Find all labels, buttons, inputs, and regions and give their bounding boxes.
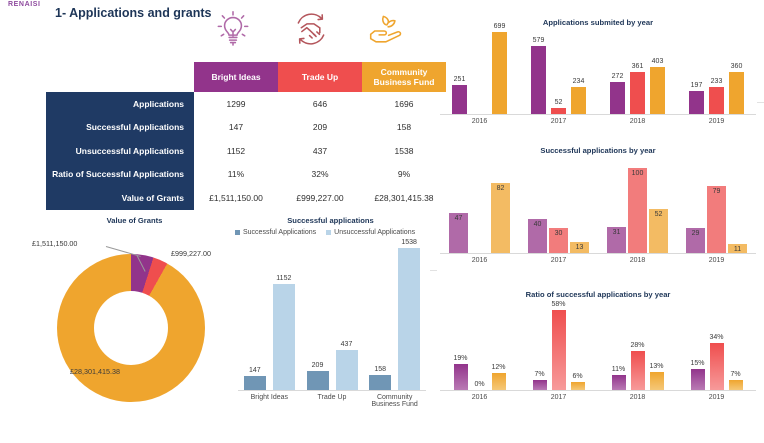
bar-bright-ideas-2016[interactable] (454, 364, 468, 390)
x-axis-label-bright-ideas: Bright Ideas (238, 394, 301, 401)
bar-label-community-business-fund-2019: 11 (722, 246, 753, 253)
bar-community-business-fund-2017[interactable] (571, 87, 586, 114)
chart-successful-applications: Successful applications Successful Appli… (228, 212, 433, 440)
cell-successful-bright-ideas: 147 (194, 116, 278, 140)
legend-item-unsuccessful[interactable]: Unsuccessful Applications (326, 229, 415, 236)
bar-trade-up-2019[interactable] (709, 87, 724, 114)
column-header-trade-up: Trade Up (278, 62, 362, 92)
bar-label-community-business-fund-2018: 52 (643, 211, 674, 218)
bar-label-community-business-fund-2017: 6% (565, 373, 591, 380)
bar-bright-ideas-2018[interactable] (612, 375, 626, 390)
bar-label-unsuccessful-applications-Community Business Fund: 1538 (392, 239, 426, 246)
bar-label-trade-up-2017: 58% (546, 301, 572, 308)
legend-item-successful[interactable]: Successful Applications (235, 229, 316, 236)
column-header-bright-ideas: Bright Ideas (194, 62, 278, 92)
row-label-unsuccessful-applications: Unsuccessful Applications (46, 139, 194, 163)
chart-title: Value of Grants (32, 216, 237, 225)
bar-label-successful-applications-Bright Ideas: 147 (238, 367, 272, 374)
bar-successful-applications-Community Business Fund[interactable] (369, 375, 391, 390)
x-axis-line (440, 390, 756, 391)
bar-label-successful-applications-Trade Up: 209 (301, 362, 335, 369)
legend-swatch-unsuccessful (326, 230, 331, 235)
table-corner-cell (46, 62, 194, 92)
bar-label-community-business-fund-2018: 13% (644, 363, 670, 370)
bar-trade-up-2019[interactable] (707, 186, 726, 253)
summary-table: Bright Ideas Trade Up Community Business… (46, 62, 446, 210)
x-axis-label-2016: 2016 (440, 257, 519, 264)
donut-hole (94, 291, 168, 365)
bar-label-trade-up-2019: 79 (701, 188, 732, 195)
bar-unsuccessful-applications-Community Business Fund[interactable] (398, 248, 420, 390)
chart-successful-applications-by-year: Successful applications by year 47824030… (432, 144, 764, 284)
bar-label-trade-up-2017: 52 (545, 99, 572, 106)
bar-community-business-fund-2017[interactable] (571, 382, 585, 390)
x-axis-line (440, 114, 756, 115)
bar-label-community-business-fund-2017: 234 (565, 78, 592, 85)
chart-title: Successful applications by year (432, 146, 764, 155)
bar-bright-ideas-2019[interactable] (689, 91, 704, 114)
bar-community-business-fund-2019[interactable] (729, 72, 744, 114)
chart-ratio-of-successful-applications-by-year: Ratio of successful applications by year… (432, 286, 764, 436)
cell-grants-trade-up: £999,227.00 (278, 186, 362, 210)
cell-successful-trade-up: 209 (278, 116, 362, 140)
plot-area: 25169957952234272361403197233360 (440, 32, 756, 114)
bar-label-community-business-fund-2019: 7% (723, 371, 749, 378)
bar-trade-up-2018[interactable] (630, 72, 645, 114)
bar-community-business-fund-2016[interactable] (492, 32, 507, 114)
donut-label-bright-ideas: £1,511,150.00 (32, 239, 77, 248)
bar-trade-up-2017[interactable] (552, 310, 566, 390)
bar-label-trade-up-2017: 30 (543, 230, 574, 237)
x-axis-label-trade-up: Trade Up (301, 394, 364, 401)
x-axis-label-2018: 2018 (598, 118, 677, 125)
bar-label-bright-ideas-2017: 579 (525, 37, 552, 44)
bar-unsuccessful-applications-Bright Ideas[interactable] (273, 284, 295, 390)
bar-label-bright-ideas-2016: 251 (446, 76, 473, 83)
plot-area: 19%0%12%7%58%6%11%28%13%15%34%7% (440, 310, 756, 390)
renaisi-logo: RENAISI (8, 1, 41, 8)
bar-bright-ideas-2017[interactable] (531, 46, 546, 114)
bar-trade-up-2019[interactable] (710, 343, 724, 390)
bar-community-business-fund-2016[interactable] (491, 183, 510, 253)
x-axis-line (440, 253, 756, 254)
chart-legend: Successful Applications Unsuccessful App… (235, 229, 415, 236)
x-axis-label-community-business-fund: CommunityBusiness Fund (363, 394, 426, 408)
x-axis-label-2018: 2018 (598, 394, 677, 401)
legend-label-unsuccessful: Unsuccessful Applications (334, 229, 415, 236)
table-row: Value of Grants £1,511,150.00 £999,227.0… (46, 186, 446, 210)
bar-label-trade-up-2016: 0% (467, 381, 493, 388)
row-label-ratio-successful: Ratio of Successful Applications (46, 163, 194, 187)
edge-tick (757, 102, 764, 103)
bar-label-successful-applications-Community Business Fund: 158 (363, 366, 397, 373)
legend-label-successful: Successful Applications (243, 229, 316, 236)
row-label-applications: Applications (46, 92, 194, 116)
x-axis-line (238, 390, 426, 391)
x-axis-label-2019: 2019 (677, 257, 756, 264)
x-axis-label-2017: 2017 (519, 118, 598, 125)
handshake-icon (283, 6, 339, 52)
table-header-row: Bright Ideas Trade Up Community Business… (46, 62, 446, 92)
bar-bright-ideas-2017[interactable] (533, 380, 547, 390)
bar-label-community-business-fund-2016: 82 (485, 185, 516, 192)
hand-leaf-icon (357, 6, 413, 52)
page-title: 1- Applications and grants (55, 6, 212, 20)
legend-swatch-successful (235, 230, 240, 235)
x-axis-label-2019: 2019 (677, 394, 756, 401)
row-label-value-of-grants: Value of Grants (46, 186, 194, 210)
x-axis-label-2018: 2018 (598, 257, 677, 264)
x-axis-label-2017: 2017 (519, 394, 598, 401)
cell-unsuccessful-trade-up: 437 (278, 139, 362, 163)
edge-tick (430, 270, 437, 271)
bar-label-bright-ideas-2016: 47 (443, 215, 474, 222)
table-row: Ratio of Successful Applications 11% 32%… (46, 163, 446, 187)
chart-value-of-grants: Value of Grants £1,511,150.00 £999,227.0… (32, 212, 237, 440)
lightbulb-icon (205, 6, 261, 52)
x-axis-label-2016: 2016 (440, 118, 519, 125)
bar-label-community-business-fund-2016: 699 (486, 23, 513, 30)
chart-applications-submitted-by-year: Applications submited by year 2516995795… (432, 16, 764, 144)
bar-bright-ideas-2018[interactable] (610, 82, 625, 114)
bar-successful-applications-Trade Up[interactable] (307, 371, 329, 390)
cell-ratio-bright-ideas: 11% (194, 163, 278, 187)
bar-label-community-business-fund-2019: 360 (723, 63, 750, 70)
cell-ratio-trade-up: 32% (278, 163, 362, 187)
cell-grants-bright-ideas: £1,511,150.00 (194, 186, 278, 210)
cell-applications-bright-ideas: 1299 (194, 92, 278, 116)
x-axis-label-2016: 2016 (440, 394, 519, 401)
cell-applications-trade-up: 646 (278, 92, 362, 116)
donut-label-trade-up: £999,227.00 (171, 249, 211, 258)
table-row: Unsuccessful Applications 1152 437 1538 (46, 139, 446, 163)
table-row: Successful Applications 147 209 158 (46, 116, 446, 140)
bar-community-business-fund-2019[interactable] (729, 380, 743, 390)
bar-label-trade-up-2019: 34% (704, 334, 730, 341)
cell-unsuccessful-bright-ideas: 1152 (194, 139, 278, 163)
bar-label-trade-up-2019: 233 (703, 78, 730, 85)
bar-label-trade-up-2018: 100 (622, 170, 653, 177)
table-row: Applications 1299 646 1696 (46, 92, 446, 116)
chart-title: Ratio of successful applications by year (432, 290, 764, 299)
bar-bright-ideas-2019[interactable] (691, 369, 705, 390)
donut-label-cbf: £28,301,415.38 (70, 367, 120, 376)
bar-label-trade-up-2018: 28% (625, 342, 651, 349)
plot-area: 14711522094371581538 (238, 248, 426, 390)
row-label-successful-applications: Successful Applications (46, 116, 194, 140)
bar-label-bright-ideas-2016: 19% (448, 355, 474, 362)
bar-label-community-business-fund-2016: 12% (486, 364, 512, 371)
bar-community-business-fund-2018[interactable] (650, 372, 664, 390)
bar-label-bright-ideas-2019: 15% (685, 360, 711, 367)
bar-label-community-business-fund-2017: 13 (564, 244, 595, 251)
plot-area: 47824030133110052297911 (440, 168, 756, 253)
bar-unsuccessful-applications-Trade Up[interactable] (336, 350, 358, 390)
bar-community-business-fund-2018[interactable] (650, 67, 665, 114)
bar-label-unsuccessful-applications-Bright Ideas: 1152 (267, 275, 301, 282)
bar-trade-up-2018[interactable] (631, 351, 645, 390)
chart-title: Successful applications (228, 216, 433, 225)
bar-label-bright-ideas-2017: 7% (527, 371, 553, 378)
bar-label-community-business-fund-2018: 403 (644, 58, 671, 65)
bar-label-unsuccessful-applications-Trade Up: 437 (330, 341, 364, 348)
x-axis-label-2019: 2019 (677, 118, 756, 125)
x-axis-label-2017: 2017 (519, 257, 598, 264)
chart-title: Applications submited by year (432, 18, 764, 27)
bar-community-business-fund-2016[interactable] (492, 373, 506, 390)
bar-successful-applications-Bright Ideas[interactable] (244, 376, 266, 390)
bar-label-bright-ideas-2018: 272 (604, 73, 631, 80)
bar-bright-ideas-2016[interactable] (452, 85, 467, 114)
bar-label-bright-ideas-2018: 11% (606, 366, 632, 373)
